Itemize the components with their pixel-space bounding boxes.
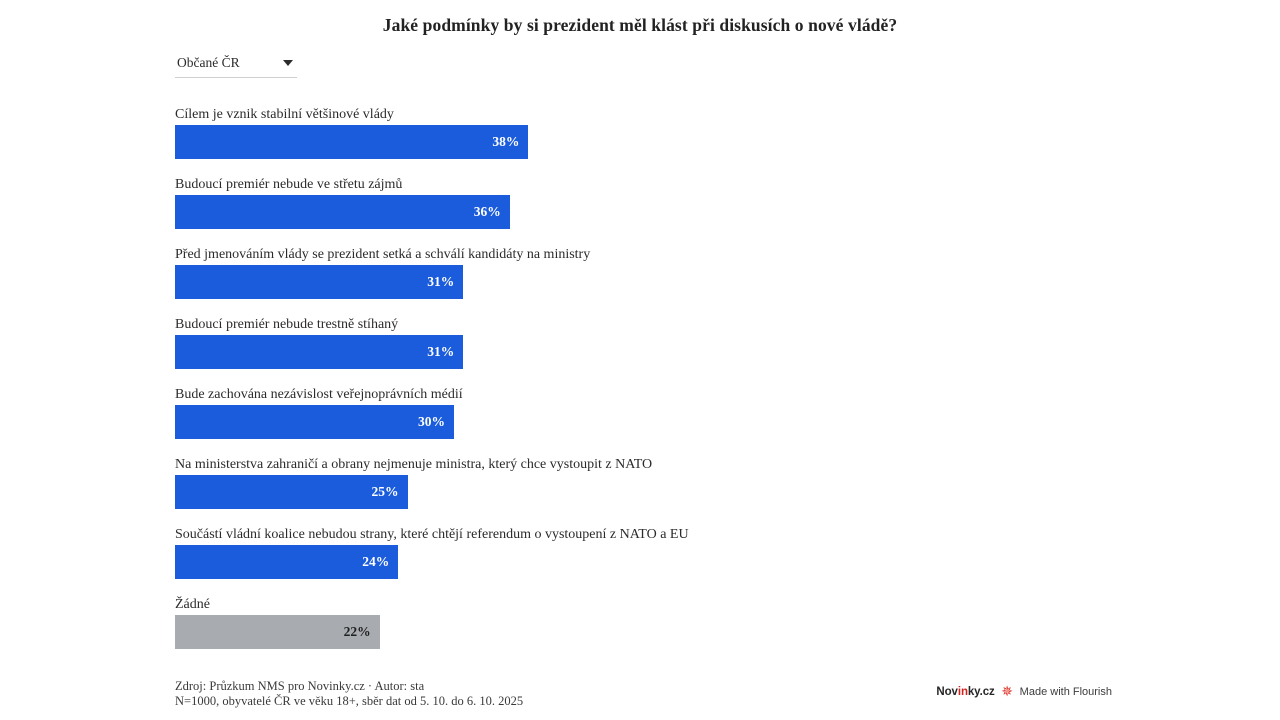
bar-row: Žádné22%: [175, 596, 1105, 666]
bar-row: Před jmenováním vlády se prezident setká…: [175, 246, 1105, 316]
bar-fill[interactable]: 38%: [175, 125, 528, 159]
bar-category-label: Budoucí premiér nebude trestně stíhaný: [175, 316, 1105, 335]
bar-category-label: Na ministerstva zahraničí a obrany nejme…: [175, 456, 1105, 475]
bar-fill[interactable]: 30%: [175, 405, 454, 439]
page-title: Jaké podmínky by si prezident měl klást …: [175, 14, 1105, 36]
source-line: Zdroj: Průzkum NMS pro Novinky.cz · Auto…: [175, 679, 523, 694]
bar-category-label: Budoucí premiér nebude ve střetu zájmů: [175, 176, 1105, 195]
bar-category-label: Cílem je vznik stabilní většinové vlády: [175, 106, 1105, 125]
bar-row: Budoucí premiér nebude trestně stíhaný31…: [175, 316, 1105, 386]
audience-filter-dropdown[interactable]: Občané ČR: [175, 50, 297, 78]
bar-track: 30%: [175, 405, 1105, 439]
chart-page: Jaké podmínky by si prezident měl klást …: [0, 0, 1280, 720]
bar-track: 22%: [175, 615, 1105, 649]
bar-fill[interactable]: 24%: [175, 545, 398, 579]
bar-fill[interactable]: 31%: [175, 335, 463, 369]
novinky-logo-part1: Nov: [936, 686, 957, 698]
bar-value-label: 25%: [372, 484, 399, 500]
bar-value-label: 36%: [474, 204, 501, 220]
bar-value-label: 24%: [362, 554, 389, 570]
bar-fill[interactable]: 36%: [175, 195, 510, 229]
novinky-logo: Novinky.cz: [936, 686, 994, 698]
bar-value-label: 31%: [427, 344, 454, 360]
flourish-asterisk-icon: ✵: [1001, 685, 1014, 698]
bar-value-label: 30%: [418, 414, 445, 430]
sample-line: N=1000, obyvatelé ČR ve věku 18+, sběr d…: [175, 694, 523, 709]
chevron-down-icon: [283, 60, 293, 66]
bar-track: 38%: [175, 125, 1105, 159]
filter-container: Občané ČR: [175, 50, 297, 78]
novinky-logo-accent: in: [958, 686, 968, 698]
bar-row: Cílem je vznik stabilní většinové vlády3…: [175, 106, 1105, 176]
bar-track: 36%: [175, 195, 1105, 229]
bar-category-label: Bude zachována nezávislost veřejnoprávní…: [175, 386, 1105, 405]
bar-row: Na ministerstva zahraničí a obrany nejme…: [175, 456, 1105, 526]
bar-value-label: 31%: [427, 274, 454, 290]
novinky-logo-part2: ky.cz: [968, 686, 995, 698]
chart-credit: Novinky.cz ✵ Made with Flourish: [936, 685, 1112, 698]
bar-track: 24%: [175, 545, 1105, 579]
bar-fill[interactable]: 31%: [175, 265, 463, 299]
bar-category-label: Před jmenováním vlády se prezident setká…: [175, 246, 1105, 265]
bar-category-label: Součástí vládní koalice nebudou strany, …: [175, 526, 1105, 545]
bar-fill[interactable]: 22%: [175, 615, 380, 649]
made-with-flourish-label[interactable]: Made with Flourish: [1020, 686, 1112, 698]
bar-value-label: 38%: [492, 134, 519, 150]
bar-chart: Cílem je vznik stabilní většinové vlády3…: [175, 106, 1105, 666]
audience-filter-value: Občané ČR: [177, 55, 240, 71]
bar-track: 31%: [175, 335, 1105, 369]
bar-fill[interactable]: 25%: [175, 475, 408, 509]
bar-row: Součástí vládní koalice nebudou strany, …: [175, 526, 1105, 596]
bar-row: Budoucí premiér nebude ve střetu zájmů36…: [175, 176, 1105, 246]
bar-value-label: 22%: [344, 624, 371, 640]
bar-row: Bude zachována nezávislost veřejnoprávní…: [175, 386, 1105, 456]
chart-footer: Zdroj: Průzkum NMS pro Novinky.cz · Auto…: [175, 679, 523, 709]
bar-track: 31%: [175, 265, 1105, 299]
bar-track: 25%: [175, 475, 1105, 509]
bar-category-label: Žádné: [175, 596, 1105, 615]
